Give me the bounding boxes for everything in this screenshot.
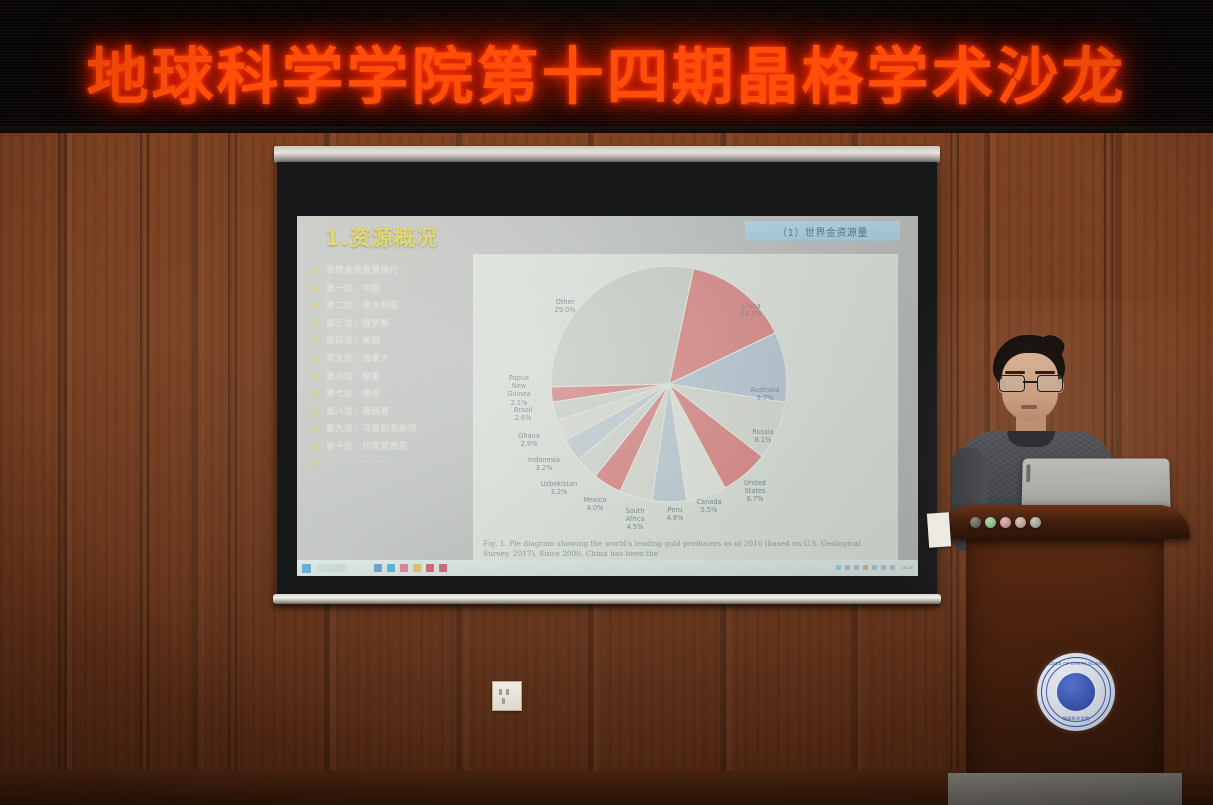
tray-battery-icon[interactable] <box>890 565 895 570</box>
list-item: 第十位：印度尼西亚 <box>313 440 463 452</box>
bullet-square-icon <box>313 461 317 465</box>
pie-slice-label: Indonesia3.2% <box>514 456 574 472</box>
projection-screen: 1.资源概况 （1）世界金资源量 世界金资源量排行： 第一位：中国 第二位：澳大… <box>277 146 937 609</box>
windows-taskbar[interactable]: 14:38 <box>297 560 918 576</box>
podium-knob[interactable] <box>1015 517 1026 528</box>
tray-network-icon[interactable] <box>872 565 877 570</box>
figure-caption: Fig. 1. Pie diagram showing the world's … <box>483 539 888 560</box>
pie-slice-label: Brazil2.6% <box>493 406 553 422</box>
list-item: 第五位：加拿大 <box>313 352 463 364</box>
taskbar-folder-icon[interactable] <box>413 564 421 572</box>
bullet-square-icon <box>313 357 317 361</box>
bullet-square-icon <box>313 339 317 343</box>
taskbar-app-icon[interactable] <box>374 564 382 572</box>
bullet-square-icon <box>313 445 317 449</box>
presenter-eyebrow <box>1005 371 1025 374</box>
pie-slice-label: Mexico4.0% <box>565 496 625 512</box>
glasses-lens <box>999 375 1025 392</box>
bullet-label: 第五位：加拿大 <box>326 352 390 364</box>
pie-slice <box>551 266 694 387</box>
list-item: 第六位：秘鲁 <box>313 370 463 382</box>
pie-slice-label: Other29.0% <box>535 298 595 314</box>
start-button-icon[interactable] <box>302 564 311 573</box>
slide-section-badge: （1）世界金资源量 <box>745 221 900 241</box>
projected-slide: 1.资源概况 （1）世界金资源量 世界金资源量排行： 第一位：中国 第二位：澳大… <box>297 216 918 576</box>
search-input[interactable] <box>317 564 347 572</box>
bullet-label: 第八位：墨西哥 <box>326 405 390 417</box>
bullet-label: 第九位：乌兹别克斯坦 <box>326 422 417 434</box>
taskbar-app-icon[interactable] <box>400 564 408 572</box>
figure-panel: China14.7%Australia9.7%Russia8.1%UnitedS… <box>473 254 898 564</box>
list-item: 第四位：美国 <box>313 334 463 346</box>
podium-control-buttons[interactable] <box>970 517 1041 528</box>
power-outlet <box>492 681 522 711</box>
bullet-square-icon <box>313 392 317 396</box>
bullet-square-icon <box>313 269 317 273</box>
list-item: 第三位：俄罗斯 <box>313 317 463 329</box>
pie-slice-label: Australia9.7% <box>735 386 795 402</box>
screen-housing <box>274 146 940 163</box>
pie-slice-label: Uzbekistan3.2% <box>529 480 589 496</box>
list-item: 世界金资源量排行： <box>313 264 463 276</box>
podium-knob[interactable] <box>1000 517 1011 528</box>
laptop-hinge <box>1026 464 1030 482</box>
pie-slice-label: PapuaNewGuinea2.1% <box>489 374 549 407</box>
tray-icon[interactable] <box>854 565 859 570</box>
bullet-square-icon <box>313 287 317 291</box>
podium-papers <box>927 512 951 547</box>
emblem-text-top: COLLEGE OF EARTH SCIENCES <box>1037 661 1115 666</box>
podium-knob[interactable] <box>985 517 996 528</box>
bullet-label: 第二位：澳大利亚 <box>326 299 399 311</box>
list-item: 第七位：南非 <box>313 387 463 399</box>
taskbar-app-icon[interactable] <box>387 564 395 572</box>
bullet-label: 第一位：中国 <box>326 282 381 294</box>
bullet-square-icon <box>313 322 317 326</box>
slide-title: 1.资源概况 <box>325 222 438 252</box>
screen-weight-bar <box>273 594 941 604</box>
list-item: 第二位：澳大利亚 <box>313 299 463 311</box>
bullet-square-icon <box>313 427 317 431</box>
bullet-square-icon <box>313 410 317 414</box>
glasses-icon <box>999 375 1061 390</box>
bullet-label: 第四位：美国 <box>326 334 381 346</box>
tray-icon[interactable] <box>845 565 850 570</box>
taskbar-app-icon[interactable] <box>439 564 447 572</box>
slide-bullet-list: 世界金资源量排行： 第一位：中国 第二位：澳大利亚 第三位：俄罗斯 第四位：美国… <box>313 264 463 473</box>
podium-knob[interactable] <box>1030 517 1041 528</box>
podium-knob[interactable] <box>970 517 981 528</box>
list-item: 第八位：墨西哥 <box>313 405 463 417</box>
led-banner-text: 地球科学学院第十四期晶格学术沙龙 <box>0 26 1213 116</box>
bullet-square-icon <box>313 375 317 379</box>
pie-slice-label: Ghana2.9% <box>499 432 559 448</box>
presenter-eyebrow <box>1035 371 1055 374</box>
bullet-label: 第七位：南非 <box>326 387 381 399</box>
tray-icon[interactable] <box>836 565 841 570</box>
bullet-label: 世界金资源量排行： <box>326 264 408 276</box>
tray-volume-icon[interactable] <box>881 565 886 570</box>
podium-base <box>948 773 1182 805</box>
tray-icon[interactable] <box>863 565 868 570</box>
emblem-text-bottom: 地球科学学院 <box>1037 716 1115 722</box>
list-item: 第一位：中国 <box>313 282 463 294</box>
bullet-square-icon <box>313 304 317 308</box>
glasses-bridge <box>1023 381 1037 383</box>
screen-black-border: 1.资源概况 （1）世界金资源量 世界金资源量排行： 第一位：中国 第二位：澳大… <box>277 162 937 599</box>
globe-icon <box>1057 673 1095 711</box>
bullet-label: ····················· <box>326 458 395 468</box>
list-item: ····················· <box>313 458 463 468</box>
podium: COLLEGE OF EARTH SCIENCES 地球科学学院 <box>940 505 1190 805</box>
college-emblem: COLLEGE OF EARTH SCIENCES 地球科学学院 <box>1037 653 1115 731</box>
taskbar-clock[interactable]: 14:38 <box>902 565 914 570</box>
pie-slice-label: China14.7% <box>721 302 781 318</box>
bullet-label: 第三位：俄罗斯 <box>326 317 390 329</box>
pie-slice-label: Russia8.1% <box>733 428 793 444</box>
system-tray[interactable]: 14:38 <box>832 565 914 570</box>
bullet-label: 第十位：印度尼西亚 <box>326 440 408 452</box>
led-banner: 地球科学学院第十四期晶格学术沙龙 <box>0 0 1213 133</box>
lecture-hall-photo: 地球科学学院第十四期晶格学术沙龙 1.资源概况 （1）世界金资源量 世界金资源量… <box>0 0 1213 805</box>
list-item: 第九位：乌兹别克斯坦 <box>313 422 463 434</box>
taskbar-app-icon[interactable] <box>426 564 434 572</box>
bullet-label: 第六位：秘鲁 <box>326 370 381 382</box>
presenter-mouth <box>1021 405 1037 409</box>
glasses-lens <box>1037 375 1063 392</box>
